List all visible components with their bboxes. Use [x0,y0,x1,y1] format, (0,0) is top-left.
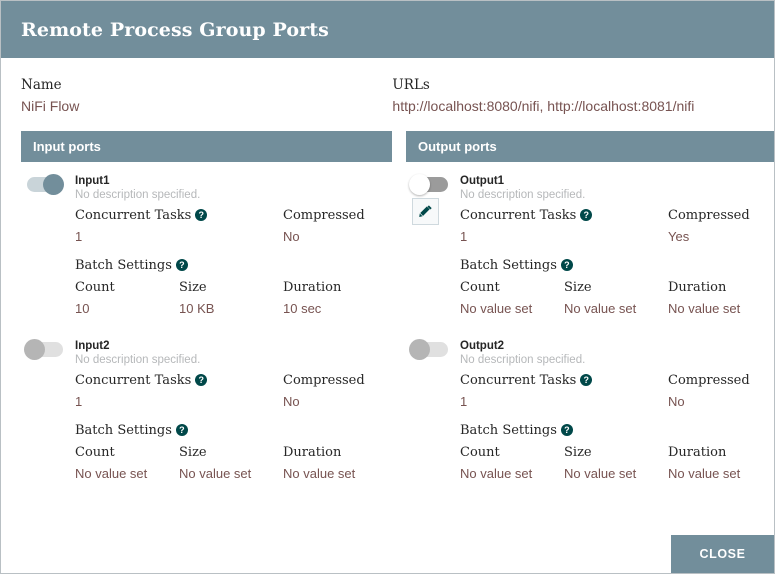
size-value: 10 KB [179,299,283,319]
concurrent-tasks-label: Concurrent Tasks? [75,370,283,392]
port-header-input2: Input2 No description specified. [21,338,392,368]
page-title: Remote Process Group Ports [21,19,329,41]
remote-process-group-ports-dialog: Remote Process Group Ports Name NiFi Flo… [0,0,775,574]
help-icon[interactable]: ? [195,209,207,221]
help-icon[interactable]: ? [561,259,573,271]
count-label: Count [460,442,564,464]
concurrent-tasks-label: Concurrent Tasks? [460,205,668,227]
concurrent-tasks-value: 1 [460,392,668,412]
output-ports-column: Output ports Output1 No description spec… [406,131,775,484]
port-toggle-input2[interactable] [27,342,63,357]
concurrent-tasks-value: 1 [75,227,283,247]
port-toggle-input1[interactable] [27,177,63,192]
port-description: No description specified. [460,353,775,368]
port-meta-output2: Output2 No description specified. [460,338,775,368]
concurrent-tasks-label: Concurrent Tasks? [460,370,668,392]
toggle-knob [409,339,430,360]
count-label: Count [460,277,564,299]
size-label: Size [564,277,668,299]
count-label: Count [75,442,179,464]
concurrent-tasks-value: 1 [460,227,668,247]
port-block-input1: Input1 No description specified. Concurr… [21,162,392,319]
port-block-output1: Output1 No description specified. Concur… [406,162,775,319]
compressed-label: Compressed [668,370,775,392]
info-row: Name NiFi Flow URLs http://localhost:808… [1,58,774,117]
port-header-input1: Input1 No description specified. [21,173,392,203]
port-gutter-output2 [406,338,460,357]
name-label: Name [21,76,387,94]
size-value: No value set [564,464,668,484]
port-name: Input2 [75,339,392,353]
compressed-value: Yes [668,227,775,247]
port-gutter-input1 [21,173,75,192]
help-icon[interactable]: ? [580,374,592,386]
duration-value: No value set [668,299,772,319]
count-value: No value set [460,464,564,484]
help-icon[interactable]: ? [176,259,188,271]
batch-settings-label: Batch Settings? [75,255,283,277]
count-label: Count [75,277,179,299]
concurrent-tasks-label: Concurrent Tasks? [75,205,283,227]
size-label: Size [564,442,668,464]
urls-value: http://localhost:8080/nifi, http://local… [392,96,754,117]
count-value: No value set [460,299,564,319]
port-name: Output2 [460,339,775,353]
ports-columns: Input ports Input1 No description specif… [1,117,774,484]
port-meta-input1: Input1 No description specified. [75,173,392,203]
count-value: No value set [75,464,179,484]
batch-settings-label: Batch Settings? [460,255,668,277]
port-properties-input2: Concurrent Tasks? Compressed 1 No Batch … [21,370,392,484]
port-toggle-output1[interactable] [412,177,448,192]
port-meta-input2: Input2 No description specified. [75,338,392,368]
name-value: NiFi Flow [21,96,387,117]
compressed-label: Compressed [668,205,775,227]
urls-label: URLs [392,76,754,94]
port-block-output2: Output2 No description specified. Concur… [406,319,775,484]
duration-label: Duration [283,277,387,299]
name-field-group: Name NiFi Flow [21,76,387,117]
dialog-header: Remote Process Group Ports [1,1,774,58]
duration-value: No value set [283,464,387,484]
toggle-knob [409,174,430,195]
batch-settings-label: Batch Settings? [75,420,283,442]
port-properties-output1: Concurrent Tasks? Compressed 1 Yes Batch… [406,205,775,319]
size-value: No value set [564,299,668,319]
edit-port-button[interactable] [412,198,439,225]
port-gutter-input2 [21,338,75,357]
concurrent-tasks-value: 1 [75,392,283,412]
help-icon[interactable]: ? [561,424,573,436]
port-description: No description specified. [75,353,392,368]
duration-label: Duration [668,277,772,299]
duration-label: Duration [283,442,387,464]
port-header-output1: Output1 No description specified. [406,173,775,203]
batch-settings-label: Batch Settings? [460,420,668,442]
urls-field-group: URLs http://localhost:8080/nifi, http://… [387,76,754,117]
size-label: Size [179,277,283,299]
port-meta-output1: Output1 No description specified. [460,173,775,203]
compressed-value: No [668,392,775,412]
port-properties-output2: Concurrent Tasks? Compressed 1 No Batch … [406,370,775,484]
count-value: 10 [75,299,179,319]
port-toggle-output2[interactable] [412,342,448,357]
help-icon[interactable]: ? [195,374,207,386]
port-header-output2: Output2 No description specified. [406,338,775,368]
size-label: Size [179,442,283,464]
pencil-icon [418,204,433,219]
duration-value: No value set [668,464,772,484]
toggle-knob [43,174,64,195]
port-block-input2: Input2 No description specified. Concurr… [21,319,392,484]
close-button[interactable]: CLOSE [671,535,774,573]
toggle-knob [24,339,45,360]
duration-label: Duration [668,442,772,464]
duration-value: 10 sec [283,299,387,319]
port-description: No description specified. [460,188,775,203]
input-ports-column: Input ports Input1 No description specif… [21,131,392,484]
help-icon[interactable]: ? [176,424,188,436]
input-ports-header: Input ports [21,131,392,162]
port-gutter-output1 [406,173,460,192]
port-description: No description specified. [75,188,392,203]
port-name: Input1 [75,174,392,188]
port-name: Output1 [460,174,775,188]
help-icon[interactable]: ? [580,209,592,221]
output-ports-header: Output ports [406,131,775,162]
size-value: No value set [179,464,283,484]
port-properties-input1: Concurrent Tasks? Compressed 1 No Batch … [21,205,392,319]
